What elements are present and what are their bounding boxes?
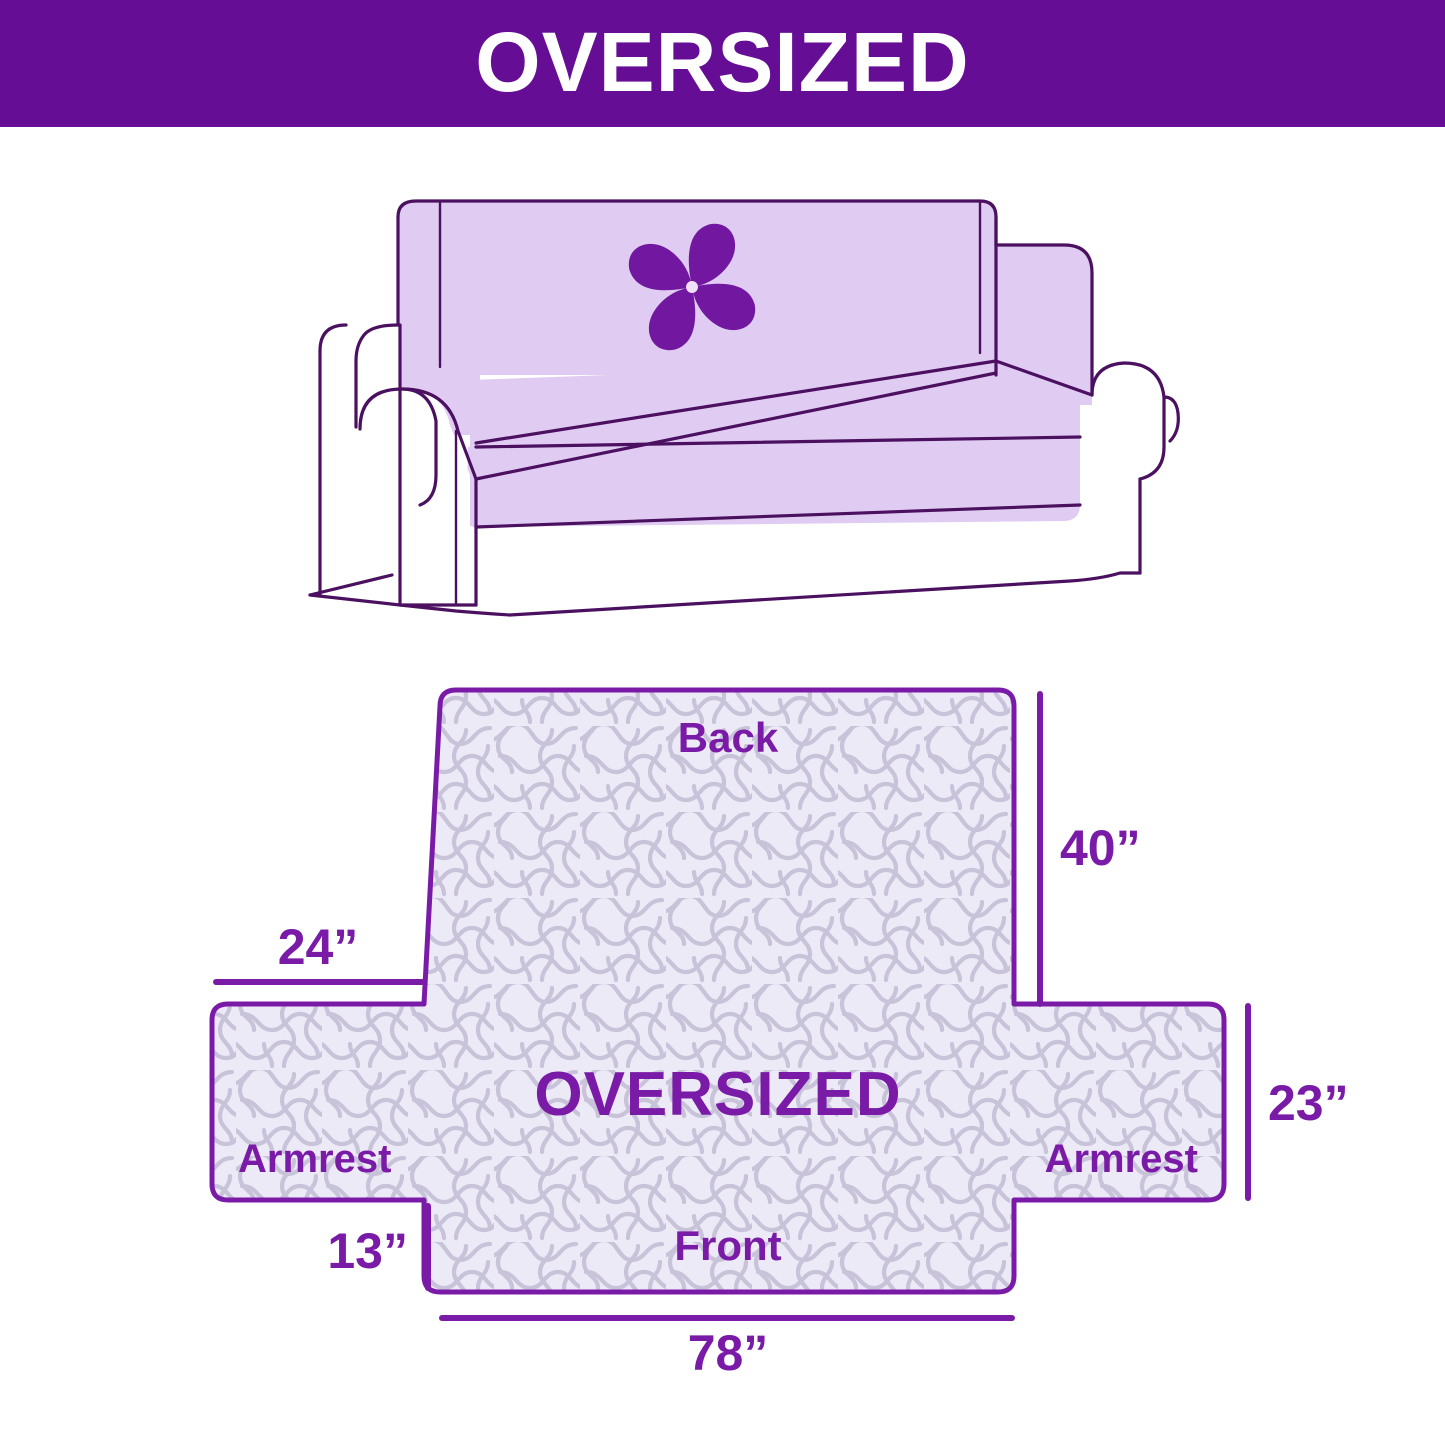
header-banner: OVERSIZED (0, 0, 1445, 127)
label-back: Back (678, 714, 779, 761)
label-armrest-right: Armrest (1045, 1137, 1198, 1181)
measure-back-height: 40” (1060, 820, 1141, 876)
page-title: OVERSIZED (475, 20, 969, 104)
measure-front-skirt: 13” (327, 1223, 408, 1279)
label-front: Front (674, 1222, 781, 1269)
product-size-chart-page: OVERSIZED .so { fill: none; stroke: #4B1… (0, 0, 1445, 1445)
measure-front-width: 78” (688, 1325, 769, 1380)
cover-shape (212, 690, 1224, 1292)
label-armrest-left: Armrest (238, 1137, 391, 1181)
dimension-diagram: Back Front Armrest Armrest OVERSIZED 40”… (150, 640, 1350, 1380)
measure-armrest-depth: 23” (1268, 1075, 1349, 1131)
label-center-oversized: OVERSIZED (534, 1060, 901, 1129)
sofa-illustration: .so { fill: none; stroke: #4B1060; strok… (280, 175, 1185, 625)
measure-back-offset: 24” (278, 919, 359, 975)
